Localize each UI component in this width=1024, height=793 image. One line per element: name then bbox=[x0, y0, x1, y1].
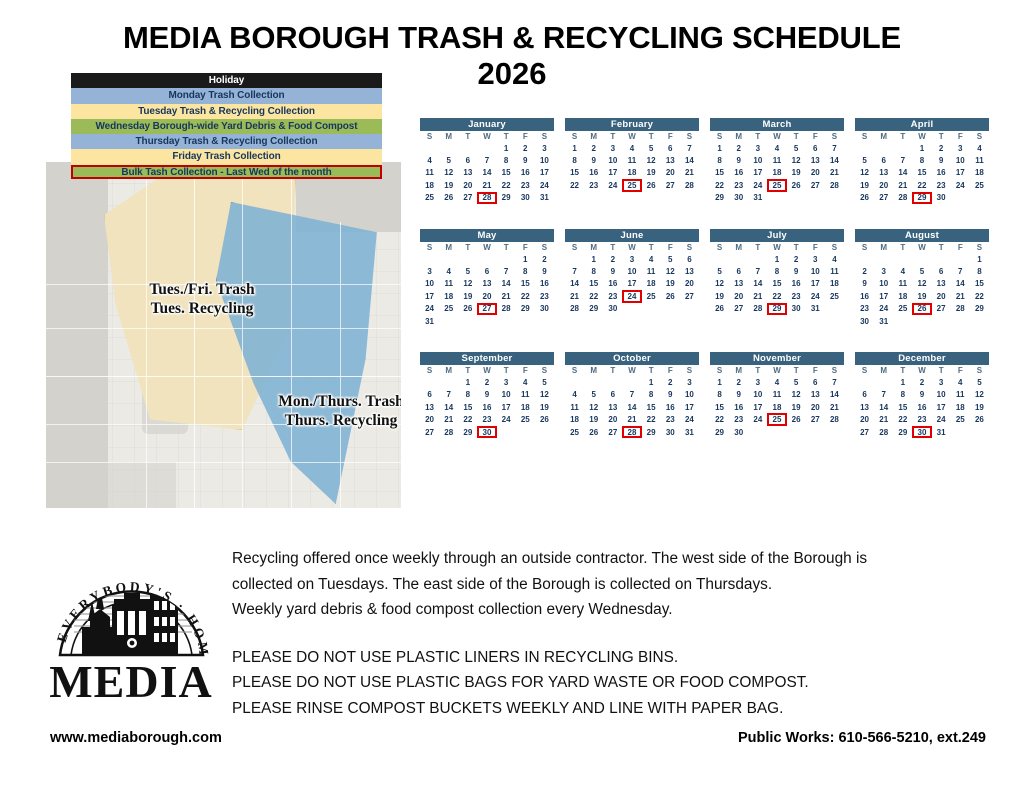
calendar-day-20: 20 bbox=[932, 290, 951, 302]
calendar-day-5: 5 bbox=[584, 389, 603, 401]
calendar-day-empty bbox=[642, 303, 661, 315]
calendar-day-19: 19 bbox=[584, 413, 603, 425]
calendar-day-11: 11 bbox=[951, 389, 970, 401]
calendar-day-17: 17 bbox=[748, 401, 767, 413]
calendar-day-5: 5 bbox=[912, 265, 931, 277]
calendar-table: SMTWTFS123456789101112131415161718192021… bbox=[855, 242, 989, 327]
weekday-header: T bbox=[893, 242, 912, 253]
calendar-day-11: 11 bbox=[970, 154, 989, 166]
calendar-day-30: 30 bbox=[516, 192, 535, 204]
calendar-day-9: 9 bbox=[661, 389, 680, 401]
weekday-header: M bbox=[874, 242, 893, 253]
calendar-day-13: 13 bbox=[855, 401, 874, 413]
calendar-week-row: 27282930 bbox=[420, 426, 554, 438]
calendar-day-12: 12 bbox=[535, 389, 554, 401]
calendar-day-28: 28 bbox=[439, 426, 458, 438]
calendar-week-row: 22232425262728 bbox=[710, 179, 844, 191]
calendar-day-11: 11 bbox=[825, 265, 844, 277]
weekday-header: S bbox=[420, 131, 439, 142]
calendar-day-4: 4 bbox=[951, 376, 970, 388]
calendar-day-empty bbox=[710, 253, 729, 265]
calendar-week-row: 13141516171819 bbox=[855, 401, 989, 413]
weekday-header: S bbox=[680, 242, 699, 253]
calendar-week-row: 567891011 bbox=[855, 154, 989, 166]
calendar-day-8: 8 bbox=[893, 389, 912, 401]
calendar-day-8: 8 bbox=[970, 265, 989, 277]
calendar-day-25: 25 bbox=[516, 413, 535, 425]
calendar-day-empty bbox=[825, 426, 844, 438]
calendar-month-november: NovemberSMTWTFS1234567891011121314151617… bbox=[710, 352, 844, 438]
map-road-monroe-st bbox=[291, 162, 292, 508]
calendar-month-title: January bbox=[420, 118, 554, 131]
calendar-day-3: 3 bbox=[497, 376, 516, 388]
calendar-day-13: 13 bbox=[874, 167, 893, 179]
calendar-day-19: 19 bbox=[970, 401, 989, 413]
calendar-day-empty bbox=[855, 253, 874, 265]
weekday-header: S bbox=[970, 242, 989, 253]
legend-row-holiday: Holiday bbox=[71, 73, 382, 88]
calendar-weekday-header-row: SMTWTFS bbox=[710, 242, 844, 253]
weekday-header: T bbox=[497, 131, 516, 142]
calendar-day-10: 10 bbox=[951, 154, 970, 166]
calendar-day-21: 21 bbox=[748, 290, 767, 302]
calendar-day-15: 15 bbox=[516, 278, 535, 290]
weekday-header: T bbox=[893, 365, 912, 376]
calendar-day-16: 16 bbox=[729, 167, 748, 179]
calendar-day-6: 6 bbox=[932, 265, 951, 277]
map-grey-area-southwest bbox=[46, 462, 176, 508]
calendar-day-9: 9 bbox=[477, 389, 496, 401]
calendar-day-4: 4 bbox=[767, 142, 786, 154]
calendar-day-24: 24 bbox=[622, 290, 641, 302]
calendar-day-2: 2 bbox=[516, 142, 535, 154]
calendar-day-2: 2 bbox=[912, 376, 931, 388]
calendar-day-13: 13 bbox=[603, 401, 622, 413]
calendar-day-23: 23 bbox=[855, 303, 874, 315]
calendar-day-6: 6 bbox=[420, 389, 439, 401]
calendar-day-2: 2 bbox=[603, 253, 622, 265]
calendar-day-10: 10 bbox=[932, 389, 951, 401]
calendar-day-15: 15 bbox=[710, 167, 729, 179]
calendar-day-5: 5 bbox=[661, 253, 680, 265]
calendar-day-4: 4 bbox=[565, 389, 584, 401]
calendar-day-15: 15 bbox=[710, 401, 729, 413]
calendar-day-empty bbox=[912, 315, 931, 327]
calendar-weekday-header-row: SMTWTFS bbox=[420, 242, 554, 253]
weekday-header: F bbox=[661, 131, 680, 142]
calendar-day-17: 17 bbox=[420, 290, 439, 302]
calendar-day-empty bbox=[748, 253, 767, 265]
weekday-header: S bbox=[855, 242, 874, 253]
weekday-header: S bbox=[680, 131, 699, 142]
calendar-day-3: 3 bbox=[806, 253, 825, 265]
calendar-day-4: 4 bbox=[970, 142, 989, 154]
weekday-header: T bbox=[603, 131, 622, 142]
calendar-day-25: 25 bbox=[825, 290, 844, 302]
calendar-day-3: 3 bbox=[932, 376, 951, 388]
map-label-west-line1: Tues./Fri. Trash bbox=[112, 280, 292, 299]
calendar-day-28: 28 bbox=[748, 303, 767, 315]
calendar-day-28: 28 bbox=[825, 413, 844, 425]
calendar-day-3: 3 bbox=[748, 376, 767, 388]
weekday-header: T bbox=[458, 131, 477, 142]
calendar-day-6: 6 bbox=[806, 376, 825, 388]
calendar-month-title: October bbox=[565, 352, 699, 365]
calendar-day-13: 13 bbox=[477, 278, 496, 290]
calendar-day-2: 2 bbox=[661, 376, 680, 388]
calendar-day-20: 20 bbox=[661, 167, 680, 179]
calendar-day-16: 16 bbox=[516, 167, 535, 179]
map-road-jackson-st bbox=[242, 162, 243, 508]
calendar-day-8: 8 bbox=[458, 389, 477, 401]
calendar-day-5: 5 bbox=[787, 376, 806, 388]
calendar-day-19: 19 bbox=[642, 167, 661, 179]
calendar-day-8: 8 bbox=[497, 154, 516, 166]
calendar-day-27: 27 bbox=[806, 179, 825, 191]
calendar-day-16: 16 bbox=[932, 167, 951, 179]
calendar-day-29: 29 bbox=[516, 303, 535, 315]
calendar-day-7: 7 bbox=[680, 142, 699, 154]
weekday-header: W bbox=[912, 131, 931, 142]
calendar-day-26: 26 bbox=[439, 192, 458, 204]
calendar-day-1: 1 bbox=[642, 376, 661, 388]
weekday-header: W bbox=[912, 242, 931, 253]
calendar-day-8: 8 bbox=[912, 154, 931, 166]
footer-contact: Public Works: 610-566-5210, ext.249 bbox=[738, 730, 986, 746]
calendar-day-19: 19 bbox=[439, 179, 458, 191]
calendar-week-row: 11121314151617 bbox=[565, 401, 699, 413]
legend-row-thu: Thursday Trash & Recycling Collection bbox=[71, 134, 382, 149]
legend-label: Tuesday Trash & Recycling Collection bbox=[138, 106, 315, 117]
calendar-day-18: 18 bbox=[565, 413, 584, 425]
calendar-week-row: 12 bbox=[420, 253, 554, 265]
calendar-table: SMTWTFS123456789101112131415161718192021… bbox=[710, 365, 844, 438]
calendar-day-26: 26 bbox=[970, 413, 989, 425]
calendar-day-21: 21 bbox=[565, 290, 584, 302]
weekday-header: F bbox=[806, 131, 825, 142]
calendar-day-24: 24 bbox=[806, 290, 825, 302]
calendar-day-15: 15 bbox=[767, 278, 786, 290]
legend-row-mon: Monday Trash Collection bbox=[71, 88, 382, 103]
calendar-day-14: 14 bbox=[680, 154, 699, 166]
calendar-day-23: 23 bbox=[535, 290, 554, 302]
weekday-header: F bbox=[806, 365, 825, 376]
calendar-day-10: 10 bbox=[420, 278, 439, 290]
calendar-day-empty bbox=[825, 192, 844, 204]
calendar-week-row: 31 bbox=[420, 315, 554, 327]
calendar-week-row: 20212223242526 bbox=[420, 413, 554, 425]
map-label-east-line2: Thurs. Recycling bbox=[241, 411, 401, 430]
calendar-day-14: 14 bbox=[893, 167, 912, 179]
calendar-day-19: 19 bbox=[787, 167, 806, 179]
weekday-header: M bbox=[439, 131, 458, 142]
calendar-day-7: 7 bbox=[439, 389, 458, 401]
calendar-day-31: 31 bbox=[748, 192, 767, 204]
calendar-day-empty bbox=[893, 142, 912, 154]
calendar-day-7: 7 bbox=[893, 154, 912, 166]
calendar-day-4: 4 bbox=[825, 253, 844, 265]
legend-row-tue: Tuesday Trash & Recycling Collection bbox=[71, 104, 382, 119]
calendar-day-27: 27 bbox=[458, 192, 477, 204]
calendar-day-6: 6 bbox=[729, 265, 748, 277]
calendar-day-1: 1 bbox=[767, 253, 786, 265]
calendar-day-22: 22 bbox=[642, 413, 661, 425]
calendar-month-title: June bbox=[565, 229, 699, 242]
calendar-day-1: 1 bbox=[497, 142, 516, 154]
calendar-day-10: 10 bbox=[748, 154, 767, 166]
calendar-week-row: 891011121314 bbox=[565, 154, 699, 166]
footer: www.mediaborough.com Public Works: 610-5… bbox=[0, 730, 1024, 760]
weekday-header: T bbox=[642, 131, 661, 142]
calendar-day-empty bbox=[932, 253, 951, 265]
calendar-weekday-header-row: SMTWTFS bbox=[420, 131, 554, 142]
calendar-day-empty bbox=[565, 376, 584, 388]
calendar-day-25: 25 bbox=[893, 303, 912, 315]
calendar-weekday-header-row: SMTWTFS bbox=[565, 242, 699, 253]
calendar-day-5: 5 bbox=[970, 376, 989, 388]
calendar-day-14: 14 bbox=[825, 154, 844, 166]
calendar-day-11: 11 bbox=[565, 401, 584, 413]
weekday-header: S bbox=[420, 365, 439, 376]
weekday-header: S bbox=[535, 365, 554, 376]
calendar-day-3: 3 bbox=[951, 142, 970, 154]
calendar-day-6: 6 bbox=[603, 389, 622, 401]
calendar-weekday-header-row: SMTWTFS bbox=[710, 365, 844, 376]
calendar-day-4: 4 bbox=[893, 265, 912, 277]
map-road-2nd-st bbox=[46, 328, 401, 329]
calendar-day-14: 14 bbox=[565, 278, 584, 290]
weekday-header: T bbox=[787, 242, 806, 253]
calendar-table: SMTWTFS123456789101112131415161718192021… bbox=[420, 365, 554, 438]
footer-website-link[interactable]: www.mediaborough.com bbox=[50, 730, 222, 746]
weekday-header: T bbox=[748, 365, 767, 376]
calendar-day-31: 31 bbox=[932, 426, 951, 438]
calendar-day-10: 10 bbox=[748, 389, 767, 401]
calendar-day-30: 30 bbox=[912, 426, 931, 438]
weekday-header: S bbox=[855, 365, 874, 376]
calendar-day-12: 12 bbox=[458, 278, 477, 290]
calendar-week-row: 17181920212223 bbox=[420, 290, 554, 302]
calendar-day-26: 26 bbox=[787, 413, 806, 425]
weekday-header: S bbox=[825, 365, 844, 376]
calendar-day-16: 16 bbox=[661, 401, 680, 413]
map-grey-area-west bbox=[46, 162, 108, 508]
calendar-day-4: 4 bbox=[622, 142, 641, 154]
calendar-day-5: 5 bbox=[535, 376, 554, 388]
calendar-day-1: 1 bbox=[565, 142, 584, 154]
weekday-header: T bbox=[748, 131, 767, 142]
calendar-day-13: 13 bbox=[420, 401, 439, 413]
weekday-header: S bbox=[855, 131, 874, 142]
calendar-day-1: 1 bbox=[970, 253, 989, 265]
calendar-day-15: 15 bbox=[565, 167, 584, 179]
calendar-day-empty bbox=[458, 315, 477, 327]
weekday-header: S bbox=[825, 242, 844, 253]
calendar-week-row: 2627282930 bbox=[855, 192, 989, 204]
collection-zone-map: Tues./Fri. Trash Tues. Recycling Mon./Th… bbox=[46, 162, 401, 508]
calendar-day-27: 27 bbox=[477, 303, 496, 315]
calendar-week-row: 22232425262728 bbox=[710, 413, 844, 425]
calendar-week-row: 9101112131415 bbox=[855, 278, 989, 290]
calendar-day-empty bbox=[622, 303, 641, 315]
calendar-week-row: 891011121314 bbox=[710, 389, 844, 401]
calendar-day-20: 20 bbox=[806, 167, 825, 179]
calendar-day-18: 18 bbox=[420, 179, 439, 191]
calendar-day-8: 8 bbox=[710, 389, 729, 401]
calendar-week-row: 19202122232425 bbox=[710, 290, 844, 302]
calendar-day-10: 10 bbox=[806, 265, 825, 277]
calendar-day-24: 24 bbox=[680, 413, 699, 425]
calendar-day-12: 12 bbox=[710, 278, 729, 290]
calendar-day-27: 27 bbox=[729, 303, 748, 315]
calendar-day-17: 17 bbox=[874, 290, 893, 302]
calendar-day-9: 9 bbox=[516, 154, 535, 166]
calendar-day-20: 20 bbox=[729, 290, 748, 302]
calendar-day-6: 6 bbox=[680, 253, 699, 265]
calendar-day-1: 1 bbox=[912, 142, 931, 154]
calendar-month-october: OctoberSMTWTFS12345678910111213141516171… bbox=[565, 352, 699, 438]
calendar-week-row: 11121314151617 bbox=[420, 167, 554, 179]
legend-label: Holiday bbox=[209, 75, 244, 86]
calendar-month-april: AprilSMTWTFS1234567891011121314151617181… bbox=[855, 118, 989, 204]
calendar-day-23: 23 bbox=[932, 179, 951, 191]
calendar-day-26: 26 bbox=[787, 179, 806, 191]
calendar-day-empty bbox=[970, 426, 989, 438]
calendar-day-empty bbox=[806, 426, 825, 438]
calendar-day-8: 8 bbox=[642, 389, 661, 401]
calendar-day-12: 12 bbox=[912, 278, 931, 290]
calendar-week-row: 1234 bbox=[710, 253, 844, 265]
calendar-week-row: 1234567 bbox=[710, 142, 844, 154]
weekday-header: S bbox=[825, 131, 844, 142]
calendar-day-14: 14 bbox=[825, 389, 844, 401]
weekday-header: T bbox=[642, 365, 661, 376]
calendar-day-empty bbox=[951, 192, 970, 204]
weekday-header: T bbox=[893, 131, 912, 142]
calendar-day-31: 31 bbox=[420, 315, 439, 327]
notes-block: Recycling offered once weekly through an… bbox=[232, 546, 992, 721]
calendar-day-21: 21 bbox=[477, 179, 496, 191]
calendar-day-26: 26 bbox=[642, 179, 661, 191]
calendar-day-29: 29 bbox=[970, 303, 989, 315]
calendar-day-18: 18 bbox=[951, 401, 970, 413]
calendar-day-empty bbox=[951, 315, 970, 327]
calendar-day-22: 22 bbox=[710, 413, 729, 425]
weekday-header: T bbox=[497, 365, 516, 376]
calendar-day-7: 7 bbox=[825, 142, 844, 154]
calendar-day-1: 1 bbox=[710, 376, 729, 388]
calendar-day-10: 10 bbox=[874, 278, 893, 290]
calendar-day-15: 15 bbox=[497, 167, 516, 179]
calendar-day-16: 16 bbox=[477, 401, 496, 413]
calendar-week-row: 12131415161718 bbox=[710, 278, 844, 290]
calendar-day-empty bbox=[420, 376, 439, 388]
calendar-day-29: 29 bbox=[893, 426, 912, 438]
weekday-header: F bbox=[516, 131, 535, 142]
calendar-week-row: 6789101112 bbox=[855, 389, 989, 401]
calendar-day-10: 10 bbox=[497, 389, 516, 401]
calendar-day-8: 8 bbox=[767, 265, 786, 277]
calendar-day-16: 16 bbox=[912, 401, 931, 413]
note-line-1: Recycling offered once weekly through an… bbox=[232, 546, 992, 572]
calendar-weekday-header-row: SMTWTFS bbox=[855, 131, 989, 142]
calendar-day-20: 20 bbox=[680, 278, 699, 290]
calendar-month-title: July bbox=[710, 229, 844, 242]
calendar-day-13: 13 bbox=[458, 167, 477, 179]
calendar-day-30: 30 bbox=[855, 315, 874, 327]
calendar-month-march: MarchSMTWTFS1234567891011121314151617181… bbox=[710, 118, 844, 204]
weekday-header: W bbox=[767, 365, 786, 376]
calendar-week-row: 14151617181920 bbox=[565, 278, 699, 290]
calendar-week-row: 3456789 bbox=[420, 265, 554, 277]
calendar-day-empty bbox=[767, 426, 786, 438]
calendar-day-6: 6 bbox=[477, 265, 496, 277]
map-road-lincoln-st bbox=[46, 462, 401, 463]
weekday-header: M bbox=[729, 242, 748, 253]
page-title: MEDIA BOROUGH TRASH & RECYCLING SCHEDULE bbox=[0, 22, 1024, 55]
calendar-row: JanuarySMTWTFS12345678910111213141516171… bbox=[420, 118, 998, 204]
calendar-day-26: 26 bbox=[458, 303, 477, 315]
weekday-header: W bbox=[912, 365, 931, 376]
weekday-header: W bbox=[622, 365, 641, 376]
calendar-day-12: 12 bbox=[661, 265, 680, 277]
calendar-day-empty bbox=[603, 376, 622, 388]
calendar-day-8: 8 bbox=[565, 154, 584, 166]
legend-row-wed: Wednesday Borough-wide Yard Debris & Foo… bbox=[71, 119, 382, 134]
weekday-header: F bbox=[951, 242, 970, 253]
calendar-day-10: 10 bbox=[603, 154, 622, 166]
calendar-day-empty bbox=[439, 142, 458, 154]
calendar-day-22: 22 bbox=[970, 290, 989, 302]
calendar-day-12: 12 bbox=[970, 389, 989, 401]
calendar-day-2: 2 bbox=[855, 265, 874, 277]
calendar-day-31: 31 bbox=[874, 315, 893, 327]
calendar-day-29: 29 bbox=[642, 426, 661, 438]
calendar-week-row: 12131415161718 bbox=[855, 167, 989, 179]
calendar-month-title: February bbox=[565, 118, 699, 131]
calendar-day-empty bbox=[787, 426, 806, 438]
calendar-day-2: 2 bbox=[932, 142, 951, 154]
calendar-day-23: 23 bbox=[516, 179, 535, 191]
weekday-header: W bbox=[622, 131, 641, 142]
calendar-day-29: 29 bbox=[912, 192, 931, 204]
calendar-day-29: 29 bbox=[767, 303, 786, 315]
calendar-day-22: 22 bbox=[497, 179, 516, 191]
weekday-header: T bbox=[603, 242, 622, 253]
calendar-day-30: 30 bbox=[535, 303, 554, 315]
calendar-day-empty bbox=[516, 315, 535, 327]
calendar-day-empty bbox=[661, 303, 680, 315]
calendar-day-11: 11 bbox=[439, 278, 458, 290]
calendar-day-empty bbox=[806, 192, 825, 204]
weekday-header: M bbox=[584, 131, 603, 142]
weekday-header: T bbox=[603, 365, 622, 376]
calendar-day-15: 15 bbox=[642, 401, 661, 413]
weekday-header: T bbox=[642, 242, 661, 253]
calendar-day-24: 24 bbox=[951, 179, 970, 191]
calendar-day-26: 26 bbox=[535, 413, 554, 425]
calendar-day-24: 24 bbox=[748, 179, 767, 191]
calendar-day-24: 24 bbox=[603, 179, 622, 191]
weekday-header: F bbox=[951, 131, 970, 142]
calendar-day-17: 17 bbox=[806, 278, 825, 290]
calendar-day-25: 25 bbox=[951, 413, 970, 425]
calendar-day-22: 22 bbox=[767, 290, 786, 302]
calendar-week-row: 45678910 bbox=[420, 154, 554, 166]
calendar-weekday-header-row: SMTWTFS bbox=[855, 242, 989, 253]
map-road-plum-st bbox=[340, 222, 341, 508]
calendar-week-row: 1234 bbox=[855, 142, 989, 154]
